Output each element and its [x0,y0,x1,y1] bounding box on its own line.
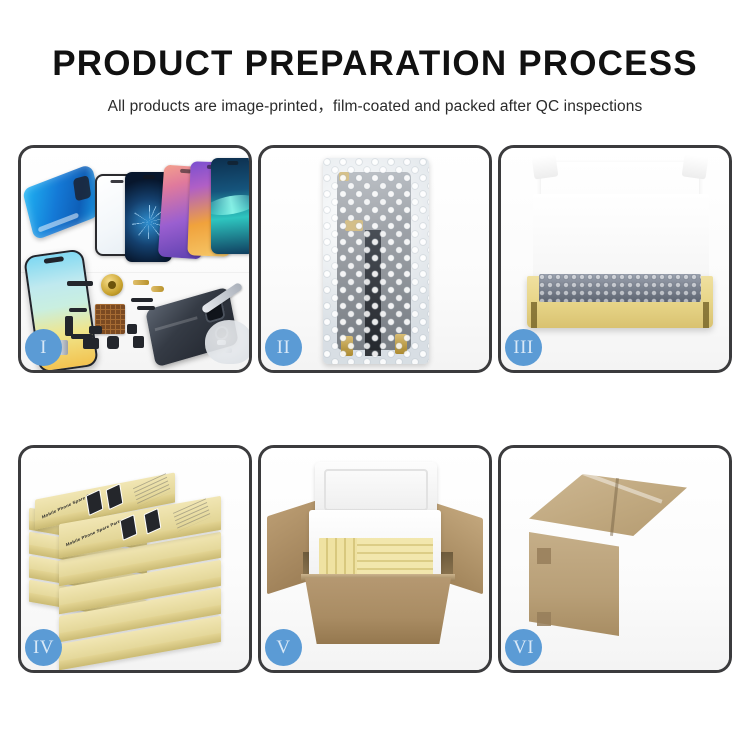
spare-part-small-4 [133,336,144,348]
blue-back-plate [22,163,104,240]
bubble-wrapped-contents [539,274,701,302]
adhesive-strip [38,212,79,232]
step-1-image: I [21,148,249,370]
spare-part-small-2 [107,336,119,349]
spare-part-connector [151,286,164,292]
step-2-image: II [261,148,489,370]
phone-display-teal [211,158,249,254]
step-6-image: VI [501,448,729,670]
spare-part-module [83,338,99,349]
step-5-image: V [261,448,489,670]
step-badge-3: III [505,329,542,366]
spare-part-flex-1 [131,298,153,302]
process-step-panel-5[interactable]: V [258,445,492,673]
box-stack: Mobile Phone Spare Parts Mobile Phone Sp… [29,470,243,658]
spare-part-flex-2 [137,306,155,310]
carton-front-wall [305,578,451,644]
process-step-panel-1[interactable]: I [18,145,252,373]
yellow-boxes-row-2 [357,538,433,578]
bubble-wrap-pouch [323,158,429,364]
step-badge-2: II [265,329,302,366]
spare-part-small-1 [89,326,102,334]
product-preparation-infographic: PRODUCT PREPARATION PROCESS All products… [0,0,750,750]
header: PRODUCT PREPARATION PROCESS All products… [0,0,750,116]
camera-cutout [73,175,91,201]
process-step-panel-6[interactable]: VI [498,445,732,673]
tray-corner-right [703,302,709,328]
hand-holding-part [205,320,249,364]
tray-corner-left [531,302,537,328]
page-title: PRODUCT PREPARATION PROCESS [0,0,750,84]
process-step-panel-4[interactable]: Mobile Phone Spare Parts Mobile Phone Sp… [18,445,252,673]
page-subtitle: All products are image-printed，film-coat… [0,84,750,116]
spare-part-gold-contact [133,280,149,285]
lid-flap-right [682,154,709,179]
bubble-texture [323,158,429,364]
process-step-panel-3[interactable]: III [498,145,732,373]
carton-side-face [618,534,690,638]
wallpaper-swoosh [211,192,249,219]
spare-part-flex-4 [65,316,73,336]
foam-insert [533,194,709,278]
carton-tape-lower [537,612,551,626]
step-badge-4: IV [25,629,62,666]
spare-part-speaker [67,281,93,286]
step-badge-5: V [265,629,302,666]
step-4-image: Mobile Phone Spare Parts Mobile Phone Sp… [21,448,249,670]
antenna-band [155,316,198,331]
lid-flap-left [532,154,559,179]
spare-part-small-3 [127,324,137,334]
process-step-panel-2[interactable]: II [258,145,492,373]
step-badge-6: VI [505,629,542,666]
spare-part-flex-3 [69,308,87,312]
process-steps-grid: I II [18,145,732,673]
carton-tape-upper [537,548,551,564]
step-badge-1: I [25,329,62,366]
wireless-charging-coil [101,274,123,296]
step-3-image: III [501,148,729,370]
